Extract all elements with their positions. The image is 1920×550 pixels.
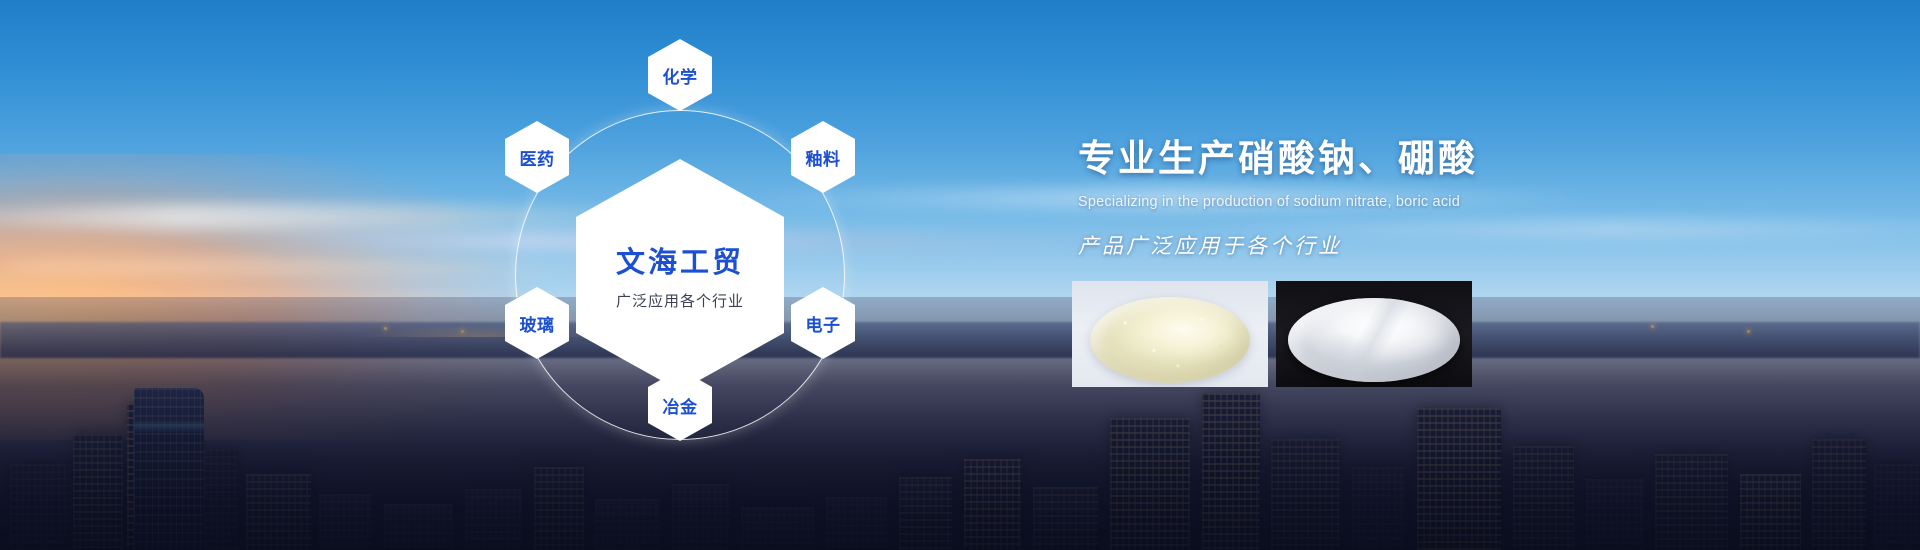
hex-node-label: 化学	[663, 63, 698, 88]
product-photo-alt: white crystalline powder sample	[1276, 281, 1277, 282]
powder-pile	[1090, 297, 1250, 383]
tagline-chinese: 产品广泛应用于各个行业	[1078, 230, 1698, 260]
headline-english: Specializing in the production of sodium…	[1078, 194, 1698, 210]
hex-node-label: 釉料	[806, 145, 841, 170]
city-haze	[0, 297, 1920, 550]
product-photo-alt: pale yellow powder sample	[1072, 281, 1073, 282]
headline-chinese: 专业生产硝酸钠、硼酸	[1078, 128, 1698, 182]
hex-node-label: 电子	[806, 311, 841, 336]
powder-pile	[1288, 298, 1460, 382]
product-photo-sodium-nitrate[interactable]: pale yellow powder sample	[1072, 281, 1268, 387]
industry-hex-diagram: 化学 釉料 电子 冶金 玻璃 医药 文海工贸 广泛应用各个行业	[430, 25, 930, 525]
product-photo-boric-acid[interactable]: white crystalline powder sample	[1276, 281, 1472, 387]
hex-node-label: 玻璃	[520, 311, 555, 336]
promo-banner: 化学 釉料 电子 冶金 玻璃 医药 文海工贸 广泛应用各个行业 专业生产硝酸钠、…	[0, 0, 1920, 550]
company-name: 文海工贸	[616, 239, 744, 281]
hex-node-label: 冶金	[663, 393, 698, 418]
hex-node-label: 医药	[520, 145, 555, 170]
headline-block: 专业生产硝酸钠、硼酸 Specializing in the productio…	[1078, 128, 1698, 260]
hex-node-chemistry[interactable]: 化学	[648, 39, 712, 111]
company-tagline: 广泛应用各个行业	[616, 290, 744, 311]
product-photo-group: pale yellow powder sample white crystall…	[1072, 281, 1472, 387]
cityscape	[0, 297, 1920, 550]
